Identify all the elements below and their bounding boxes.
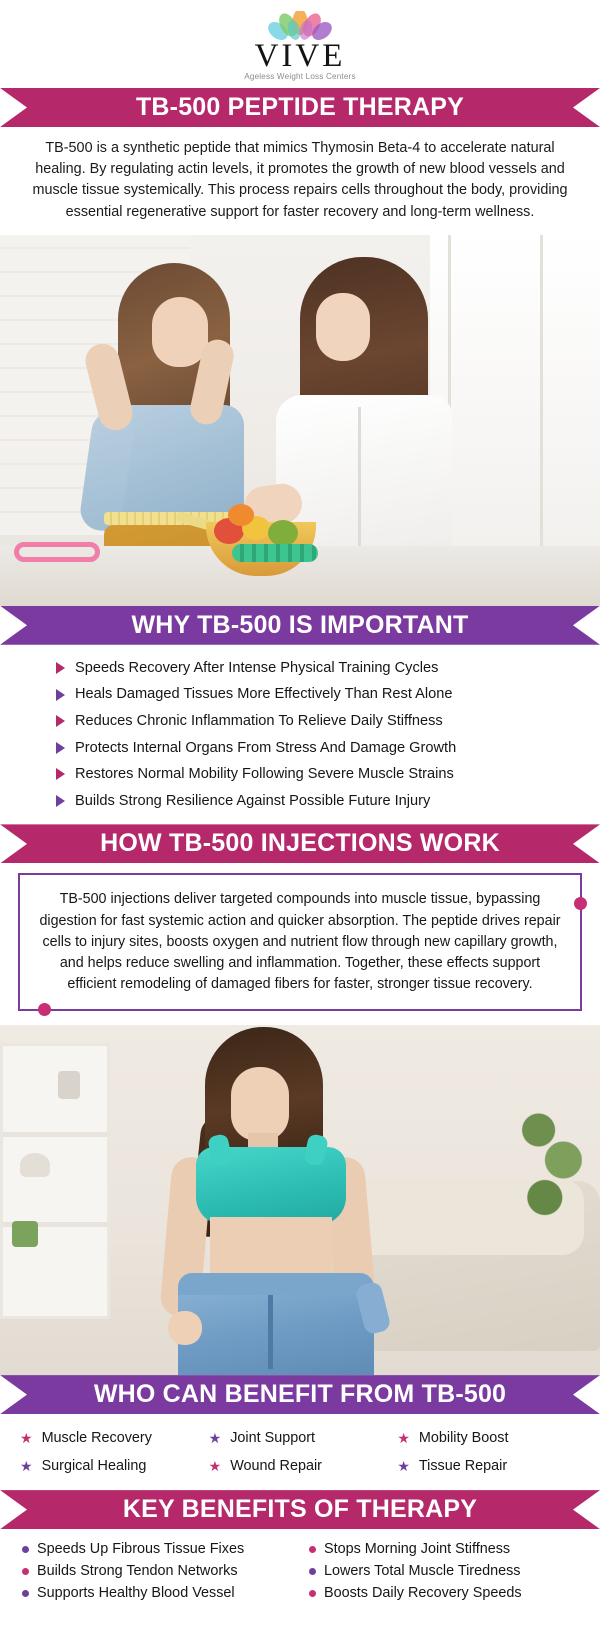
list-item-label: Mobility Boost — [419, 1430, 509, 1446]
list-item: ★ Mobility Boost — [397, 1425, 586, 1451]
arrow-bullet-icon — [56, 795, 65, 807]
dot-bullet-icon — [309, 1590, 316, 1597]
list-item-label: Builds Strong Tendon Networks — [37, 1563, 238, 1579]
infographic-page: VIVE Ageless Weight Loss Centers TB-500 … — [0, 0, 600, 1630]
banner-why-tb500-is-important: WHY TB-500 IS IMPORTANT — [0, 606, 600, 645]
how-it-works-box-wrapper: TB-500 injections deliver targeted compo… — [0, 863, 600, 1025]
banner-title: KEY BENEFITS OF THERAPY — [123, 1497, 477, 1522]
list-item: ★ Muscle Recovery — [20, 1425, 209, 1451]
brand-logo: VIVE Ageless Weight Loss Centers — [0, 0, 600, 88]
list-item-label: Restores Normal Mobility Following Sever… — [75, 763, 454, 786]
list-item: ★ Joint Support — [209, 1425, 398, 1451]
dot-bullet-icon — [22, 1568, 29, 1575]
accent-dot-icon — [38, 1003, 51, 1016]
list-item: Restores Normal Mobility Following Sever… — [0, 761, 600, 788]
arrow-bullet-icon — [56, 768, 65, 780]
arrow-bullet-icon — [56, 715, 65, 727]
list-item-label: Stops Morning Joint Stiffness — [324, 1541, 510, 1557]
star-icon: ★ — [209, 1459, 222, 1473]
list-item-label: Joint Support — [230, 1430, 315, 1446]
list-item: Heals Damaged Tissues More Effectively T… — [0, 681, 600, 708]
key-benefits-grid: Speeds Up Fibrous Tissue Fixes Stops Mor… — [0, 1529, 600, 1616]
photo-waist-measurement — [0, 235, 600, 606]
list-item: Speeds Up Fibrous Tissue Fixes — [22, 1538, 303, 1560]
list-item-label: Muscle Recovery — [42, 1430, 152, 1446]
list-item-label: Heals Damaged Tissues More Effectively T… — [75, 683, 452, 706]
why-benefits-list: Speeds Recovery After Intense Physical T… — [0, 645, 600, 825]
dot-bullet-icon — [309, 1568, 316, 1575]
list-item-label: Boosts Daily Recovery Speeds — [324, 1585, 522, 1601]
list-item-label: Surgical Healing — [42, 1458, 147, 1474]
star-icon: ★ — [20, 1431, 33, 1445]
lotus-flower-icon — [263, 11, 337, 41]
banner-title: WHO CAN BENEFIT FROM TB-500 — [94, 1382, 506, 1407]
banner-title: HOW TB-500 INJECTIONS WORK — [100, 831, 500, 856]
accent-dot-icon — [574, 897, 587, 910]
star-icon: ★ — [397, 1459, 410, 1473]
star-icon: ★ — [397, 1431, 410, 1445]
dot-bullet-icon — [309, 1546, 316, 1553]
banner-how-tb500-injections-work: HOW TB-500 INJECTIONS WORK — [0, 824, 600, 863]
list-item: Builds Strong Tendon Networks — [22, 1560, 303, 1582]
photo-weight-loss-jeans — [0, 1025, 600, 1375]
list-item: ★ Surgical Healing — [20, 1453, 209, 1479]
list-item-label: Protects Internal Organs From Stress And… — [75, 737, 456, 760]
arrow-bullet-icon — [56, 662, 65, 674]
list-item-label: Speeds Recovery After Intense Physical T… — [75, 657, 438, 680]
intro-paragraph: TB-500 is a synthetic peptide that mimic… — [0, 127, 600, 235]
how-it-works-text: TB-500 injections deliver targeted compo… — [39, 891, 560, 992]
banner-tb500-peptide-therapy: TB-500 PEPTIDE THERAPY — [0, 88, 600, 127]
list-item: Stops Morning Joint Stiffness — [309, 1538, 590, 1560]
star-icon: ★ — [209, 1431, 222, 1445]
who-can-benefit-grid: ★ Muscle Recovery ★ Joint Support ★ Mobi… — [0, 1414, 600, 1490]
list-item: Reduces Chronic Inflammation To Relieve … — [0, 708, 600, 735]
list-item: Lowers Total Muscle Tiredness — [309, 1560, 590, 1582]
brand-name: VIVE — [255, 40, 346, 74]
list-item-label: Lowers Total Muscle Tiredness — [324, 1563, 521, 1579]
banner-key-benefits-of-therapy: KEY BENEFITS OF THERAPY — [0, 1490, 600, 1529]
arrow-bullet-icon — [56, 742, 65, 754]
list-item: Builds Strong Resilience Against Possibl… — [0, 788, 600, 815]
list-item: Boosts Daily Recovery Speeds — [309, 1582, 590, 1604]
how-it-works-box: TB-500 injections deliver targeted compo… — [18, 873, 582, 1011]
banner-who-can-benefit: WHO CAN BENEFIT FROM TB-500 — [0, 1375, 600, 1414]
list-item-label: Reduces Chronic Inflammation To Relieve … — [75, 710, 443, 733]
list-item-label: Builds Strong Resilience Against Possibl… — [75, 790, 430, 813]
dot-bullet-icon — [22, 1546, 29, 1553]
list-item: Protects Internal Organs From Stress And… — [0, 735, 600, 762]
list-item: ★ Tissue Repair — [397, 1453, 586, 1479]
star-icon: ★ — [20, 1459, 33, 1473]
list-item: Speeds Recovery After Intense Physical T… — [0, 655, 600, 682]
list-item-label: Tissue Repair — [419, 1458, 507, 1474]
dot-bullet-icon — [22, 1590, 29, 1597]
list-item: ★ Wound Repair — [209, 1453, 398, 1479]
banner-title: WHY TB-500 IS IMPORTANT — [131, 613, 468, 638]
list-item-label: Supports Healthy Blood Vessel — [37, 1585, 235, 1601]
list-item-label: Wound Repair — [230, 1458, 322, 1474]
brand-tagline: Ageless Weight Loss Centers — [244, 72, 355, 81]
list-item-label: Speeds Up Fibrous Tissue Fixes — [37, 1541, 244, 1557]
list-item: Supports Healthy Blood Vessel — [22, 1582, 303, 1604]
arrow-bullet-icon — [56, 689, 65, 701]
banner-title: TB-500 PEPTIDE THERAPY — [136, 95, 464, 120]
